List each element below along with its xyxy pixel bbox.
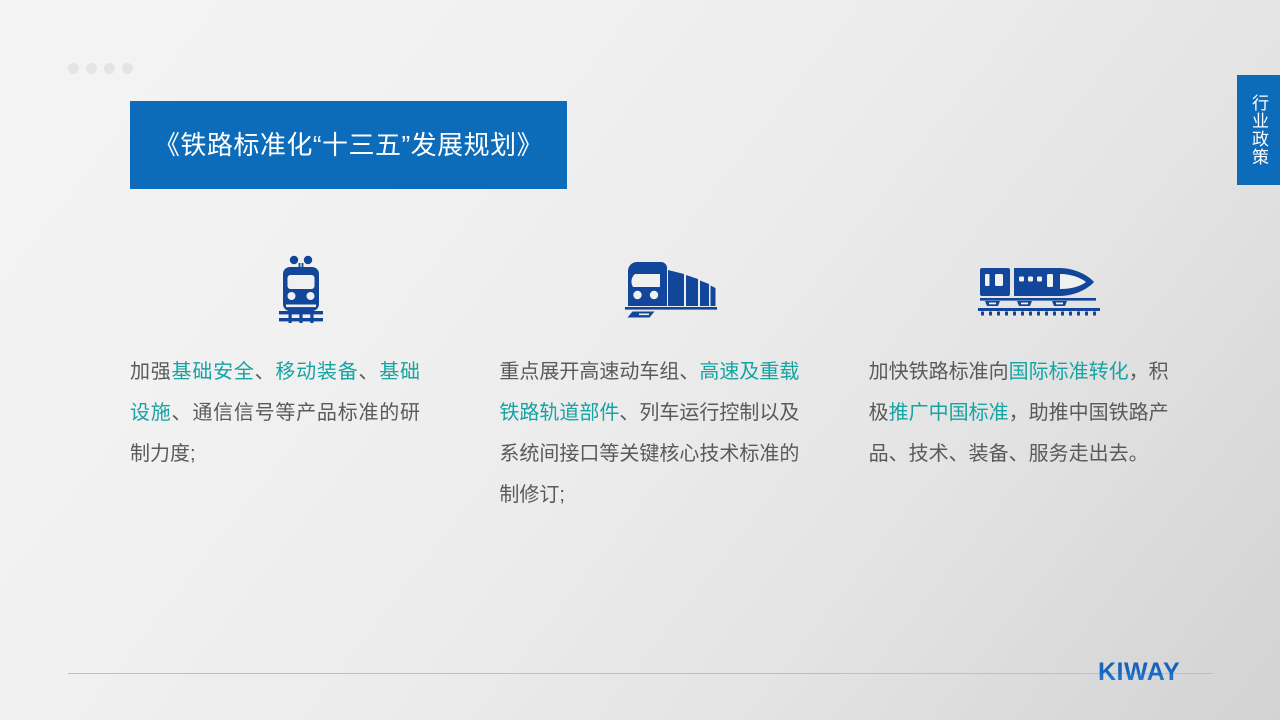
body-text-run: 加快铁路标准向 (869, 361, 1009, 383)
content-columns: 加强基础安全、移动装备、基础设施、通信信号等产品标准的研制力度; (130, 250, 1210, 516)
page-title: 《铁路标准化“十三五”发展规划》 (154, 126, 543, 165)
highlighted-term: 推广中国标准 (889, 402, 1009, 424)
title-banner: 《铁路标准化“十三五”发展规划》 (130, 101, 567, 189)
content-column-1-text: 加强基础安全、移动装备、基础设施、通信信号等产品标准的研制力度; (130, 352, 420, 475)
content-column-3-text: 加快铁路标准向国际标准转化，积极推广中国标准，助推中国铁路产品、技术、装备、服务… (869, 352, 1169, 475)
dot-2 (86, 63, 97, 74)
highlighted-term: 基础安全 (172, 361, 255, 383)
dot-4 (122, 63, 133, 74)
brand-logo-text: KIWAY (1098, 658, 1180, 687)
highlighted-term: 国际标准转化 (1009, 361, 1129, 383)
content-column-1: 加强基础安全、移动装备、基础设施、通信信号等产品标准的研制力度; (130, 250, 471, 475)
slide-root: 《铁路标准化“十三五”发展规划》 行业政策 (0, 0, 1280, 720)
body-text-run: 加强 (130, 361, 172, 383)
footer-divider (68, 673, 1213, 674)
dot-3 (104, 63, 115, 74)
content-column-3: 加快铁路标准向国际标准转化，积极推广中国标准，助推中国铁路产品、技术、装备、服务… (869, 250, 1210, 475)
dot-1 (68, 63, 79, 74)
body-text-run: 、通信信号等产品标准的研制力度; (130, 402, 420, 465)
body-text-run: 、 (358, 361, 379, 383)
content-column-2: 重点展开高速动车组、高速及重载铁路轨道部件、列车运行控制以及系统间接口等关键核心… (499, 250, 840, 516)
train-perspective-icon (499, 250, 840, 330)
body-text-run: 、 (255, 361, 276, 383)
brand-logo: KIWAY (1098, 659, 1180, 685)
high-speed-train-icon (869, 250, 1210, 330)
tram-front-icon (130, 250, 471, 330)
decorative-dots (68, 63, 133, 74)
content-column-2-text: 重点展开高速动车组、高速及重载铁路轨道部件、列车运行控制以及系统间接口等关键核心… (499, 352, 799, 516)
section-tab-industry-policy[interactable]: 行业政策 (1237, 75, 1280, 185)
highlighted-term: 移动装备 (275, 361, 358, 383)
section-tab-label: 行业政策 (1246, 94, 1271, 166)
body-text-run: 重点展开高速动车组、 (499, 361, 699, 383)
